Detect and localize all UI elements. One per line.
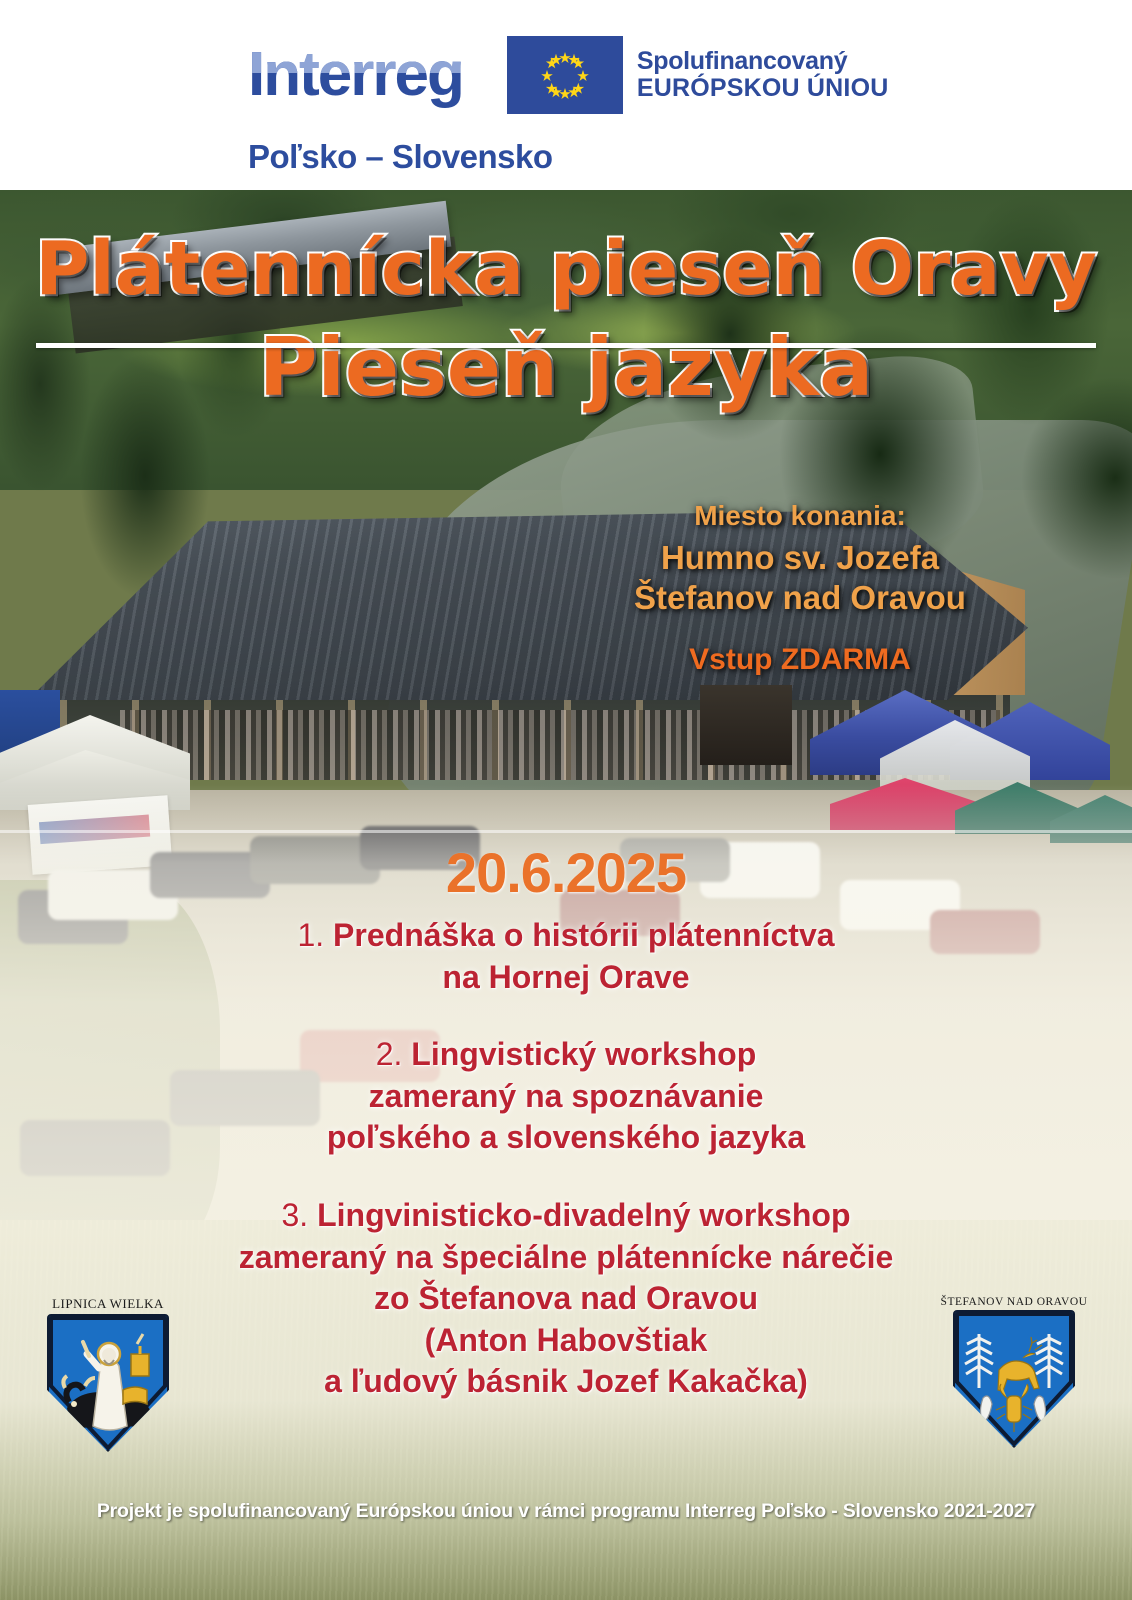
coat-of-arms-label: LIPNICA WIELKA (32, 1296, 184, 1312)
event-poster: Interreg Interreg (0, 0, 1132, 1600)
programme-item: 2. Lingvistický workshop zameraný na spo… (0, 1034, 1132, 1159)
eu-funding-text: Spolufinancovaný EURÓPSKOU ÚNIOU (637, 48, 889, 102)
venue-line-1: Humno sv. Jozefa (560, 538, 1040, 578)
coat-of-arms-label: ŠTEFANOV NAD ORAVOU (938, 1296, 1090, 1308)
item-number: 3. (282, 1197, 309, 1233)
item-line: Lingvistický workshop (411, 1036, 756, 1072)
item-line: Prednáška o histórii plátenníctva (333, 917, 834, 953)
venue-label: Miesto konania: (560, 500, 1040, 532)
programme-item-first-line: 1. Prednáška o histórii plátenníctva (0, 915, 1132, 957)
poster-title: Plátennícka pieseň Oravy Pieseň jazyka (0, 232, 1132, 408)
title-line-2: Pieseň jazyka (0, 328, 1132, 408)
programme-item-first-line: 2. Lingvistický workshop (0, 1034, 1132, 1076)
footer: Projekt je spolufinancovaný Európskou ún… (0, 1500, 1132, 1523)
shield-icon (47, 1314, 169, 1452)
item-line: poľského a slovenského jazyka (0, 1117, 1132, 1159)
venue-line-2: Štefanov nad Oravou (560, 578, 1040, 618)
interreg-logo: Interreg Interreg (248, 44, 463, 106)
shield-icon (953, 1310, 1075, 1448)
item-line: zameraný na špeciálne plátennícke náreči… (0, 1237, 1132, 1279)
interreg-wordmark-highlight: Interreg (248, 44, 463, 73)
item-number: 2. (376, 1036, 403, 1072)
eu-funding-line-1: Spolufinancovaný (637, 48, 889, 75)
footer-funding-statement: Projekt je spolufinancovaný Európskou ún… (0, 1500, 1132, 1523)
item-number: 1. (297, 917, 324, 953)
eu-emblem-block: Spolufinancovaný EURÓPSKOU ÚNIOU (507, 36, 889, 114)
venue-block: Miesto konania: Humno sv. Jozefa Štefano… (560, 500, 1040, 677)
title-line-1: Plátennícka pieseň Oravy (0, 232, 1132, 306)
coat-of-arms-lipnica-wielka: LIPNICA WIELKA (32, 1296, 184, 1452)
admission-badge: Vstup ZDARMA (560, 643, 1040, 677)
coat-of-arms-stefanov-nad-oravou: ŠTEFANOV NAD ORAVOU (938, 1296, 1090, 1448)
item-line: Lingvinisticko-divadelný workshop (317, 1197, 850, 1233)
event-date: 20.6.2025 (0, 840, 1132, 905)
programme-item-first-line: 3. Lingvinisticko-divadelný workshop (0, 1195, 1132, 1237)
item-line: zameraný na spoznávanie (0, 1076, 1132, 1118)
programme-item: 1. Prednáška o histórii plátenníctva na … (0, 915, 1132, 998)
funding-header: Interreg Interreg (0, 0, 1132, 190)
item-line: na Hornej Orave (0, 957, 1132, 999)
logo-row: Interreg Interreg (248, 36, 888, 114)
tent-dark-right (700, 685, 792, 765)
programme-name: Poľsko – Slovensko (248, 138, 553, 176)
title-divider (36, 343, 1096, 348)
eu-funding-line-2: EURÓPSKOU ÚNIOU (637, 75, 889, 102)
eu-flag-icon (507, 36, 623, 114)
